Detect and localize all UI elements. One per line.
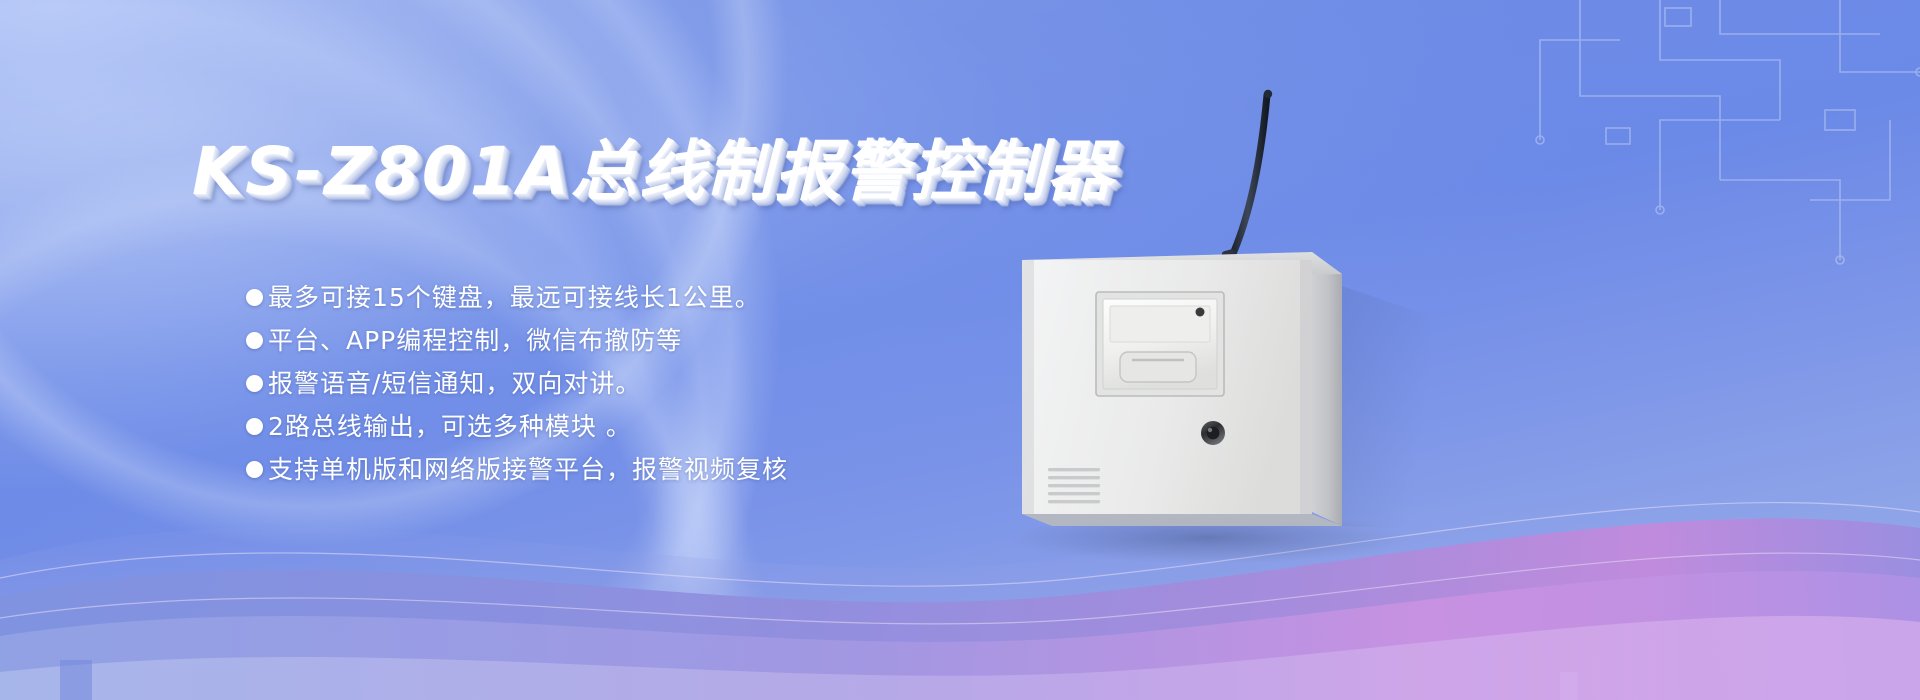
feature-list: 最多可接15个键盘，最远可接线长1公里。 平台、APP编程控制，微信布撤防等 报… xyxy=(246,276,1066,491)
feature-text: 平台、APP编程控制，微信布撤防等 xyxy=(268,319,682,362)
feature-text: 最多可接15个键盘，最远可接线长1公里。 xyxy=(268,276,761,319)
bullet-dot-icon xyxy=(246,289,263,306)
indicator-led xyxy=(1196,308,1205,317)
door-handle xyxy=(1120,352,1196,382)
antenna-icon xyxy=(1221,90,1272,273)
keypad-window xyxy=(1096,292,1224,396)
list-item: 报警语音/短信通知，双向对讲。 xyxy=(246,362,1066,405)
bullet-dot-icon xyxy=(246,461,263,478)
product-banner: KS-Z801A总线制报警控制器 最多可接15个键盘，最远可接线长1公里。 平台… xyxy=(0,0,1920,700)
list-item: 最多可接15个键盘，最远可接线长1公里。 xyxy=(246,276,1066,319)
feature-text: 支持单机版和网络版接警平台，报警视频复核 xyxy=(268,448,788,491)
feature-text: 2路总线输出，可选多种模块 。 xyxy=(268,405,632,448)
cast-shadow xyxy=(1342,286,1430,530)
feature-text: 报警语音/短信通知，双向对讲。 xyxy=(268,362,641,405)
list-item: 2路总线输出，可选多种模块 。 xyxy=(246,405,1066,448)
page-title: KS-Z801A总线制报警控制器 xyxy=(192,118,1115,214)
bullet-dot-icon xyxy=(246,375,263,392)
list-item: 支持单机版和网络版接警平台，报警视频复核 xyxy=(246,448,1066,491)
bullet-dot-icon xyxy=(246,418,263,435)
bullet-dot-icon xyxy=(246,332,263,349)
enclosure-side xyxy=(1312,252,1342,526)
door-lock xyxy=(1201,421,1225,445)
list-item: 平台、APP编程控制，微信布撤防等 xyxy=(246,319,1066,362)
